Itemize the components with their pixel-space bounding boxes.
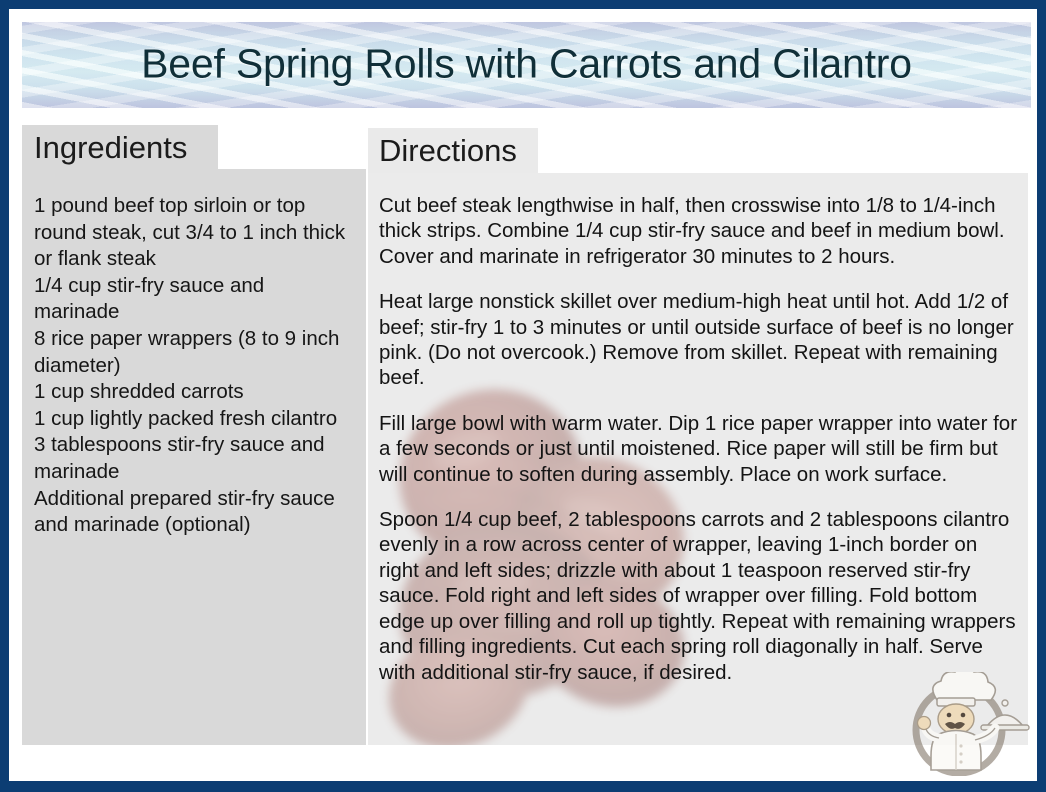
- ingredients-body: 1 pound beef top sirloin or top round st…: [22, 169, 366, 745]
- directions-header-box: Directions: [368, 128, 538, 173]
- ingredients-panel: Ingredients 1 pound beef top sirloin or …: [22, 125, 366, 745]
- list-item: 1 pound beef top sirloin or top round st…: [34, 193, 354, 273]
- directions-body: Cut beef steak lengthwise in half, then …: [368, 173, 1028, 745]
- list-item: Additional prepared stir-fry sauce and m…: [34, 486, 354, 539]
- direction-step: Heat large nonstick skillet over medium-…: [379, 289, 1018, 391]
- list-item: 1 cup lightly packed fresh cilantro: [34, 406, 354, 433]
- recipe-card: Beef Spring Rolls with Carrots and Cilan…: [0, 0, 1046, 792]
- ingredients-list: 1 pound beef top sirloin or top round st…: [34, 193, 354, 539]
- ingredients-header-box: Ingredients: [22, 125, 218, 169]
- title-banner: Beef Spring Rolls with Carrots and Cilan…: [22, 22, 1031, 108]
- direction-step: Fill large bowl with warm water. Dip 1 r…: [379, 411, 1018, 487]
- directions-steps: Cut beef steak lengthwise in half, then …: [379, 193, 1018, 685]
- recipe-card-inner: Beef Spring Rolls with Carrots and Cilan…: [9, 9, 1037, 781]
- direction-step: Cut beef steak lengthwise in half, then …: [379, 193, 1018, 269]
- page-title: Beef Spring Rolls with Carrots and Cilan…: [22, 41, 1031, 88]
- directions-heading: Directions: [379, 135, 517, 166]
- direction-step: Spoon 1/4 cup beef, 2 tablespoons carrot…: [379, 507, 1018, 685]
- list-item: 8 rice paper wrappers (8 to 9 inch diame…: [34, 326, 354, 379]
- ingredients-heading: Ingredients: [34, 132, 187, 163]
- list-item: 1 cup shredded carrots: [34, 379, 354, 406]
- list-item: 3 tablespoons stir-fry sauce and marinad…: [34, 432, 354, 485]
- list-item: 1/4 cup stir-fry sauce and marinade: [34, 273, 354, 326]
- directions-panel: Directions: [368, 128, 1028, 745]
